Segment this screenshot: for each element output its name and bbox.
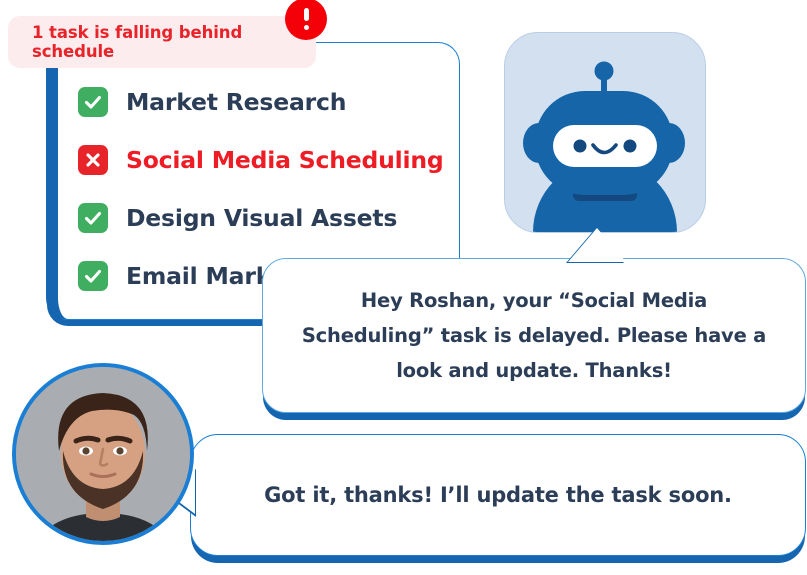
robot-avatar: [504, 32, 706, 233]
task-label: Social Media Scheduling: [126, 146, 444, 174]
bot-message-bubble: Hey Roshan, your “Social Media Schedulin…: [262, 258, 806, 413]
task-row[interactable]: Social Media Scheduling: [78, 131, 449, 189]
alert-message: 1 task is falling behind schedule: [32, 23, 316, 61]
exclamation-icon: [285, 0, 327, 40]
check-icon[interactable]: [78, 87, 108, 117]
cross-icon[interactable]: [78, 145, 108, 175]
user-photo-avatar: [16, 367, 190, 541]
user-message-bubble: Got it, thanks! I’ll update the task soo…: [190, 434, 806, 556]
check-icon[interactable]: [78, 261, 108, 291]
task-label: Market Research: [126, 88, 346, 116]
user-message-text: Got it, thanks! I’ll update the task soo…: [264, 483, 732, 507]
task-row[interactable]: Design Visual Assets: [78, 189, 449, 247]
conversation-illustration: Market Research Social Media Scheduling …: [0, 0, 807, 575]
avatar: [12, 363, 194, 545]
bot-bubble-tail: [568, 228, 626, 262]
alert-banner: 1 task is falling behind schedule: [8, 16, 316, 68]
robot-avatar-icon: [505, 33, 705, 232]
bot-message-text: Hey Roshan, your “Social Media Schedulin…: [294, 283, 774, 388]
task-row[interactable]: Market Research: [78, 73, 449, 131]
task-label: Design Visual Assets: [126, 204, 397, 232]
check-icon[interactable]: [78, 203, 108, 233]
